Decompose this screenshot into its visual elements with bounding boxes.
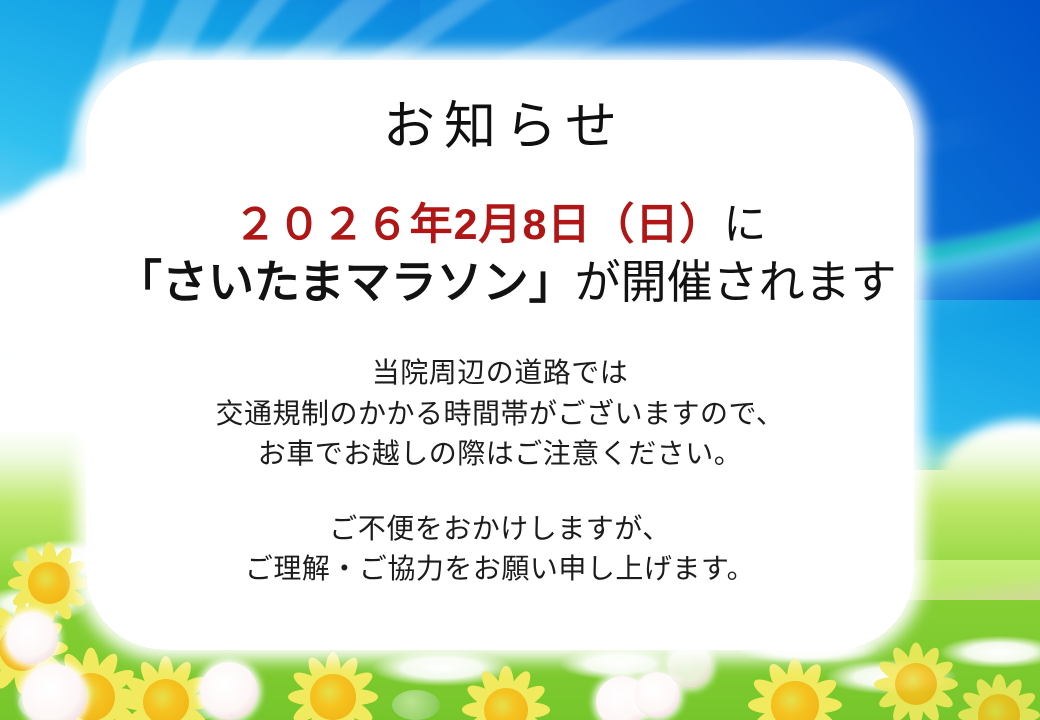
clover-puff [6,612,58,664]
clover-leaf [392,690,440,720]
daisy-flower [956,672,1040,720]
event-headline: ２０２６年2月8日（日）に 「さいたまマラソン」が開催されます [116,200,884,309]
page-title: お知らせ [116,102,884,154]
clover-puff [200,662,258,720]
notice-poster: お知らせ ２０２６年2月8日（日）に 「さいたまマラソン」が開催されます 当院周… [0,0,1040,720]
body-line: 交通規制のかかる時間帯がございますので、 [116,394,884,435]
event-date: ２０２６年2月8日（日） [234,201,724,249]
paragraph-gap [116,475,884,509]
daisy-flower [872,640,960,720]
headline-line-1-suffix: に [723,201,766,249]
daisy-flower [286,650,380,720]
clover-puff [668,644,712,688]
daisy-flower [460,664,552,720]
notice-body: 当院周辺の道路では 交通規制のかかる時間帯がございますので、 お車でお越しの際は… [116,353,884,590]
clover-puff [22,664,86,720]
headline-line-2-suffix: が開催されます [575,256,897,308]
headline-line-1: ２０２６年2月8日（日）に [116,200,884,251]
event-name: 「さいたまマラソン」 [116,256,575,308]
headline-line-2: 「さいたまマラソン」が開催されます [116,255,884,309]
notice-card: お知らせ ２０２６年2月8日（日）に 「さいたまマラソン」が開催されます 当院周… [86,60,914,650]
daisy-flower [746,656,844,720]
body-line: お車でお越しの際はご注意ください。 [116,434,884,475]
body-line: 当院周辺の道路では [116,353,884,394]
body-line: ご理解・ご協力をお願い申し上げます。 [116,549,884,590]
body-line: ご不便をおかけしますが、 [116,509,884,550]
